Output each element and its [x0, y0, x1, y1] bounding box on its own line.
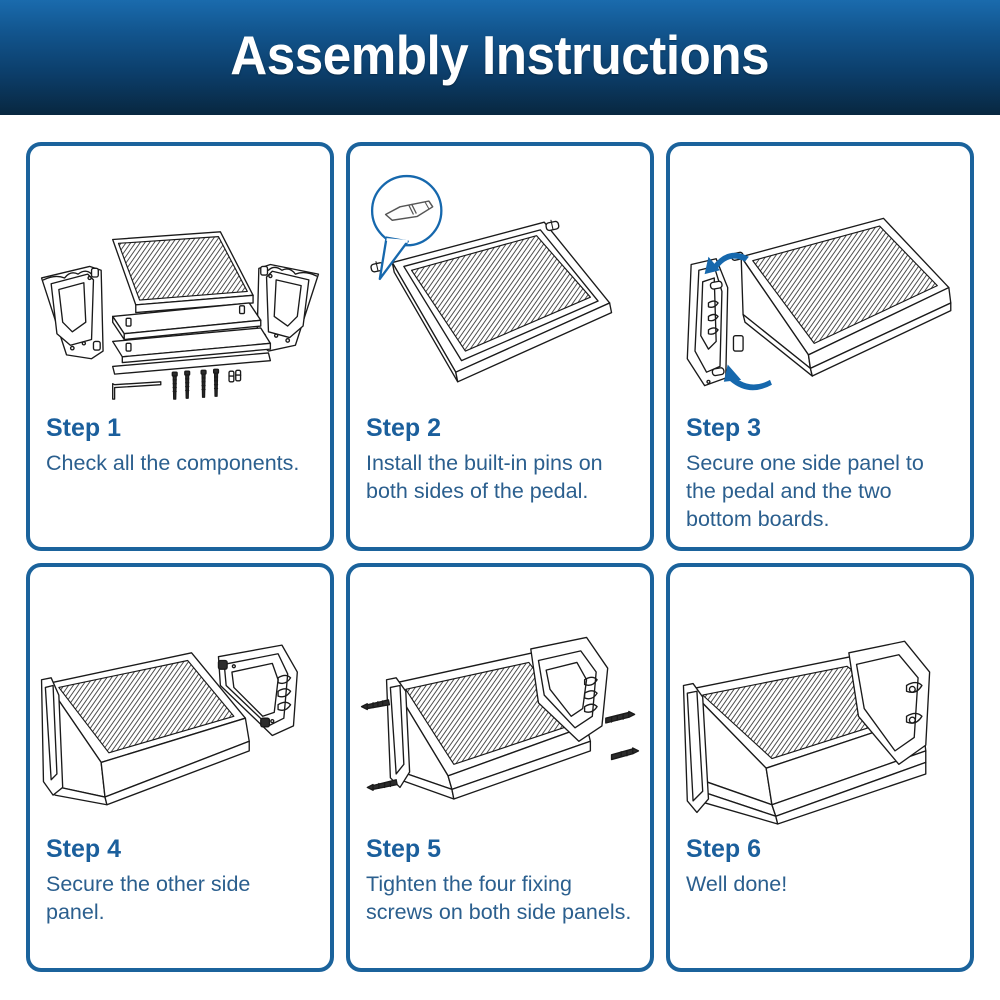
allen-key [113, 382, 161, 399]
step-3-description: Secure one side panel to the pedal and t… [686, 450, 954, 534]
step-card-3[interactable]: Step 3 Secure one side panel to the peda… [666, 142, 974, 551]
step-4-description: Secure the other side panel. [46, 871, 314, 927]
pedal-platform [392, 222, 611, 382]
screw-1 [172, 372, 177, 399]
footrest-assembly [387, 637, 608, 799]
header-banner: Assembly Instructions [0, 0, 1000, 115]
step-2-title: Step 2 [366, 414, 634, 443]
washer-pair [229, 370, 241, 382]
step-card-2[interactable]: Step 2 Install the built-in pins on both… [346, 142, 654, 551]
pedal-platform [113, 232, 253, 313]
fixing-screw-3 [606, 711, 635, 723]
built-in-pin-right [545, 220, 559, 231]
fixing-screw-4 [612, 748, 639, 760]
step-2-text-block: Step 2 Install the built-in pins on both… [350, 408, 650, 516]
screw-2 [185, 371, 190, 398]
step-1-title: Step 1 [46, 414, 314, 443]
step-card-4[interactable]: Step 4 Secure the other side panel. [26, 563, 334, 972]
step-2-description: Install the built-in pins on both sides … [366, 450, 634, 506]
page-title: Assembly Instructions [231, 28, 770, 87]
step-4-illustration [30, 567, 330, 829]
fixing-screw-1 [362, 700, 390, 710]
step-5-description: Tighten the four fixing screws on both s… [366, 871, 634, 927]
step-6-title: Step 6 [686, 835, 954, 864]
step-1-description: Check all the components. [46, 450, 314, 478]
step-3-illustration [670, 146, 970, 408]
step-1-text-block: Step 1 Check all the components. [30, 408, 330, 488]
step-5-illustration [350, 567, 650, 829]
assembly-arrow-bottom [724, 365, 772, 391]
step-3-title: Step 3 [686, 414, 954, 443]
step-4-text-block: Step 4 Secure the other side panel. [30, 829, 330, 937]
step-card-6[interactable]: Step 6 Well done! [666, 563, 974, 972]
screw-3 [201, 370, 206, 397]
pedal-assembly [42, 653, 250, 805]
step-2-illustration [350, 146, 650, 408]
fixing-screw-2 [367, 780, 397, 791]
assembly-instructions-page: Assembly Instructions [0, 0, 1000, 1000]
step-1-illustration [30, 146, 330, 408]
side-panel [687, 259, 727, 386]
step-4-title: Step 4 [46, 835, 314, 864]
step-5-text-block: Step 5 Tighten the four fixing screws on… [350, 829, 650, 937]
finished-footrest [683, 641, 929, 824]
step-3-text-block: Step 3 Secure one side panel to the peda… [670, 408, 970, 544]
screw-4 [214, 369, 219, 396]
step-card-5[interactable]: Step 5 Tighten the four fixing screws on… [346, 563, 654, 972]
step-6-text-block: Step 6 Well done! [670, 829, 970, 909]
step-6-illustration [670, 567, 970, 829]
pedal-pin-bottom [733, 336, 743, 351]
steps-grid: Step 1 Check all the components. [26, 142, 974, 972]
step-6-description: Well done! [686, 871, 954, 899]
left-side-panel [42, 266, 104, 358]
step-card-1[interactable]: Step 1 Check all the components. [26, 142, 334, 551]
pedal-body [741, 218, 951, 376]
step-5-title: Step 5 [366, 835, 634, 864]
